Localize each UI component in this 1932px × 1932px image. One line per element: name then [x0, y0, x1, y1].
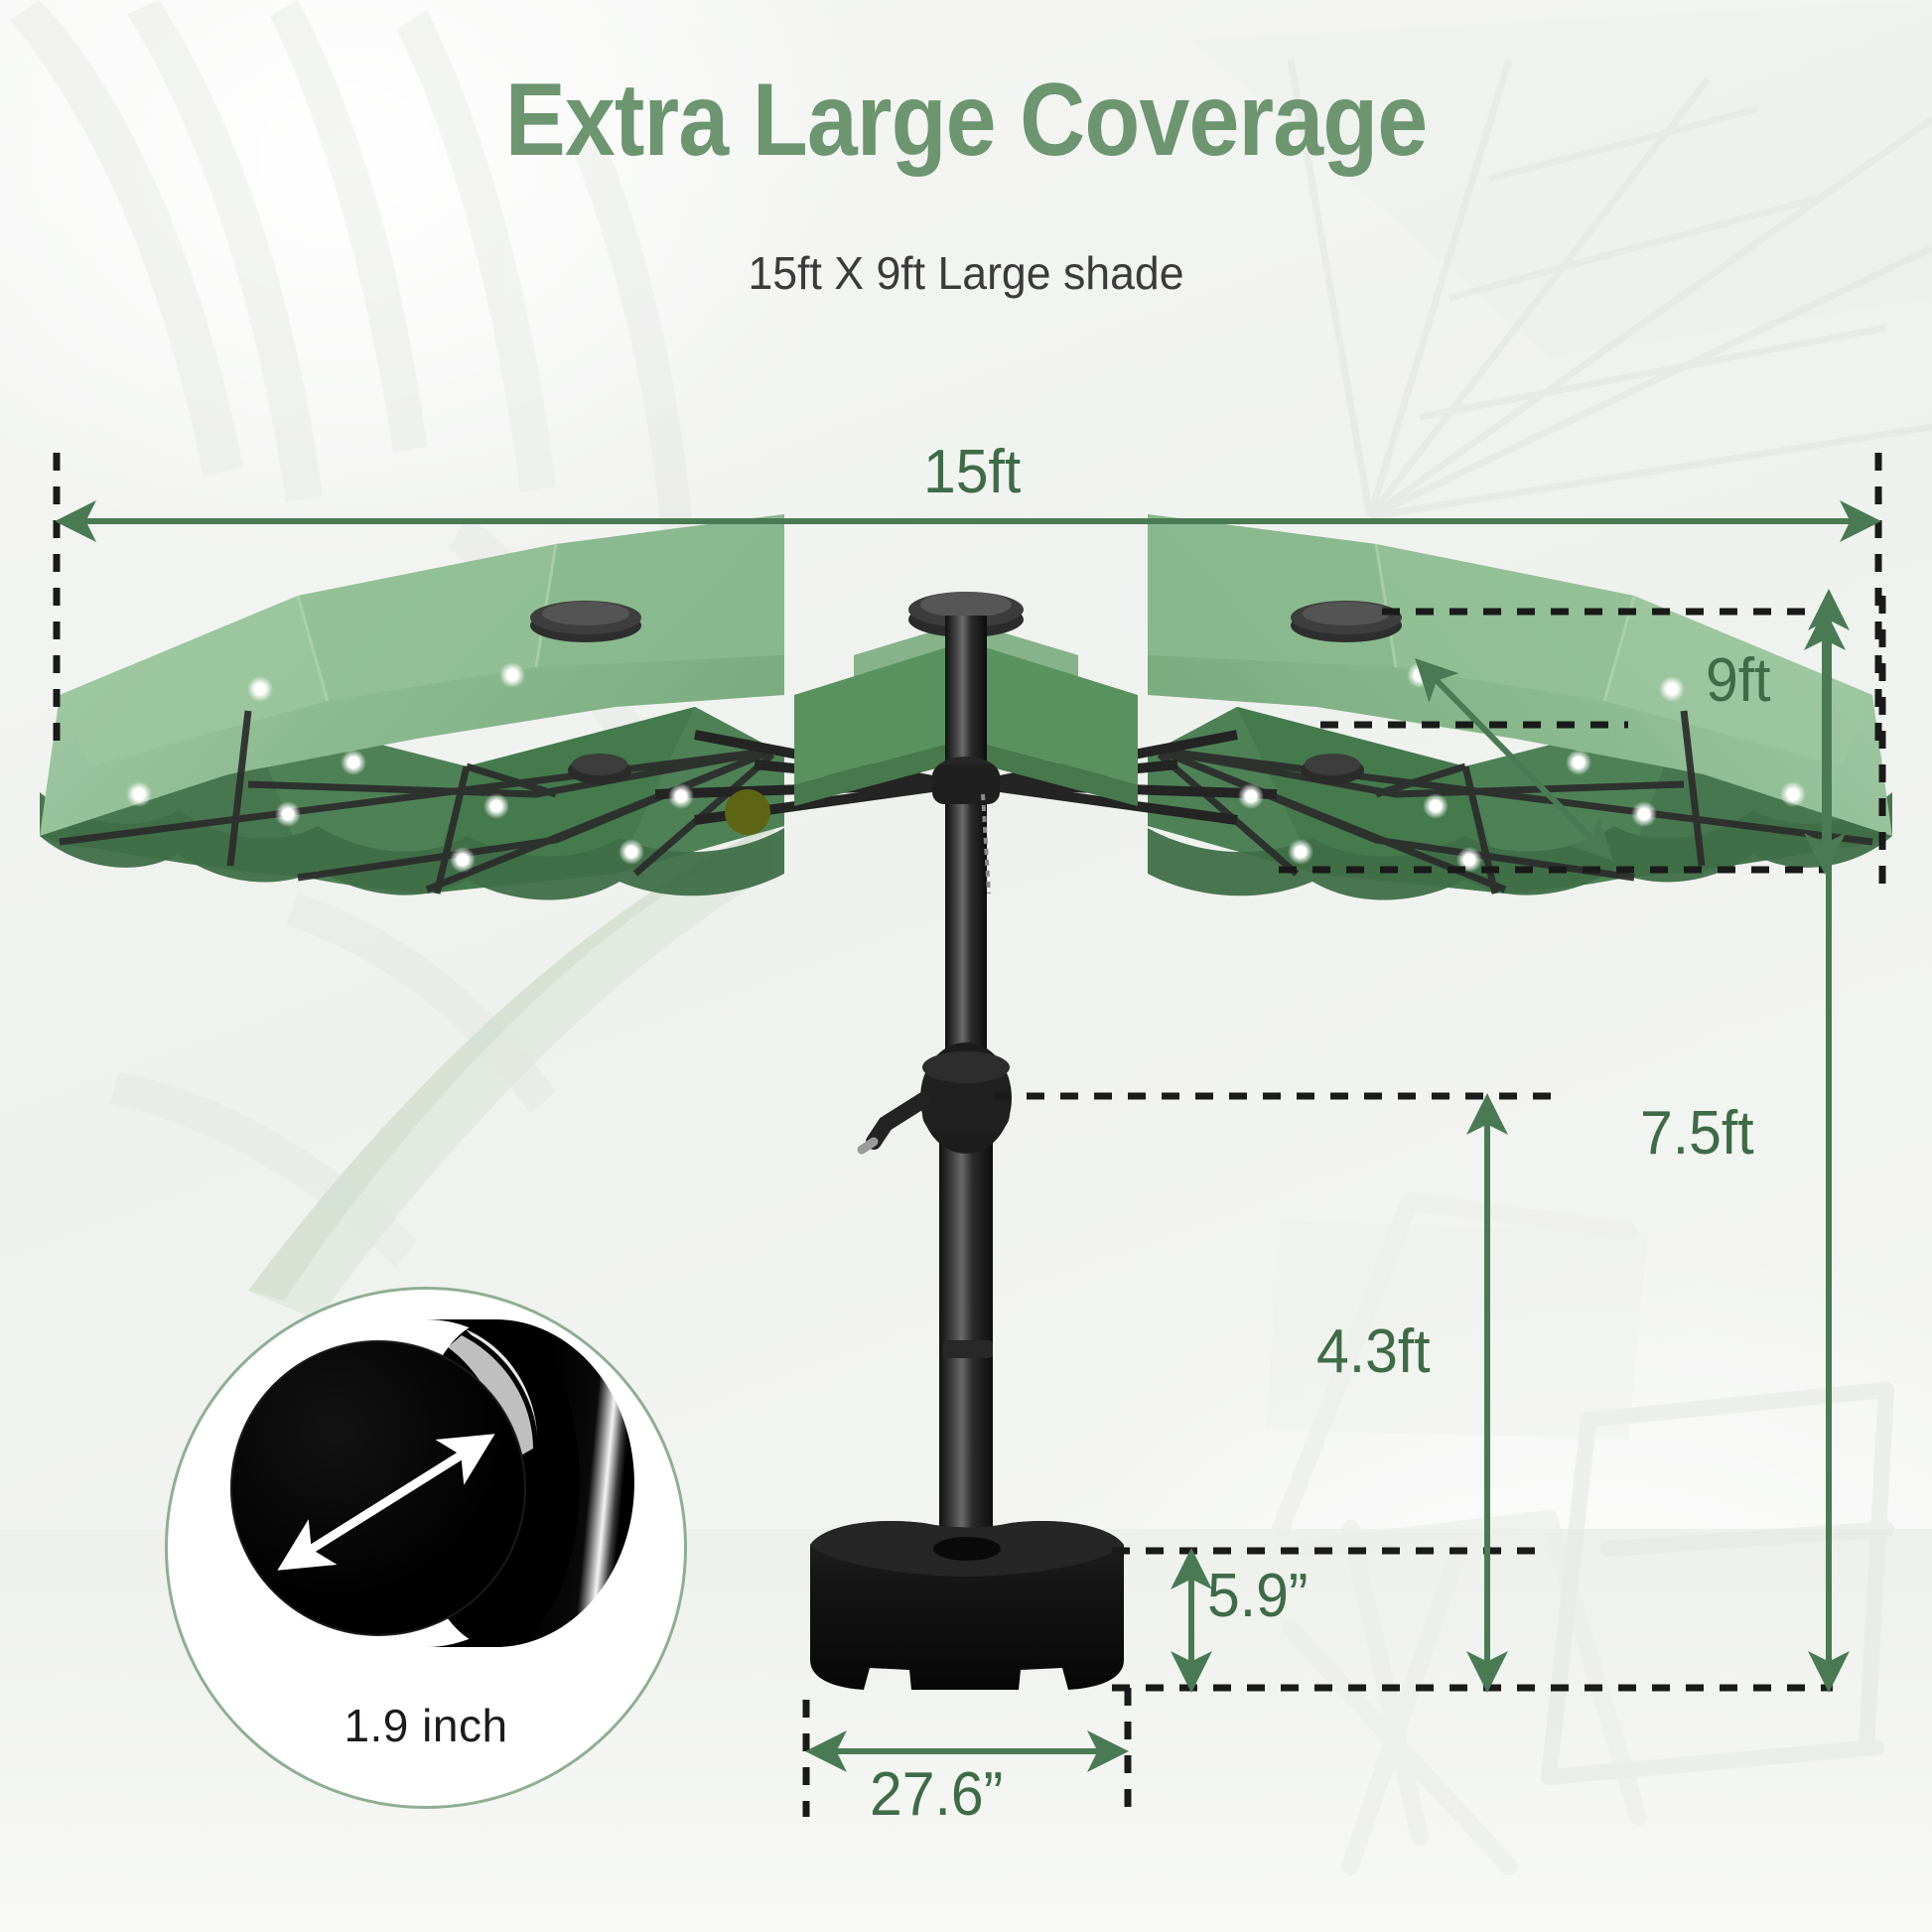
infographic-canvas: Extra Large Coverage 15ft X 9ft Large sh… — [0, 0, 1932, 1932]
dimension-label-width: 15ft — [923, 437, 1021, 507]
dimension-label-base-height: 5.9” — [1207, 1561, 1309, 1631]
dimension-label-clearance: 4.3ft — [1316, 1316, 1431, 1387]
pole-diameter-inset: 1.9 inch — [165, 1287, 687, 1809]
dimension-label-total-height: 7.5ft — [1640, 1098, 1754, 1169]
arrow-depth-diagonal — [1420, 663, 1608, 856]
dimension-label-depth: 9ft — [1706, 645, 1770, 716]
dimension-label-base-width: 27.6” — [870, 1759, 1003, 1830]
pole-diameter-label: 1.9 inch — [168, 1699, 684, 1752]
